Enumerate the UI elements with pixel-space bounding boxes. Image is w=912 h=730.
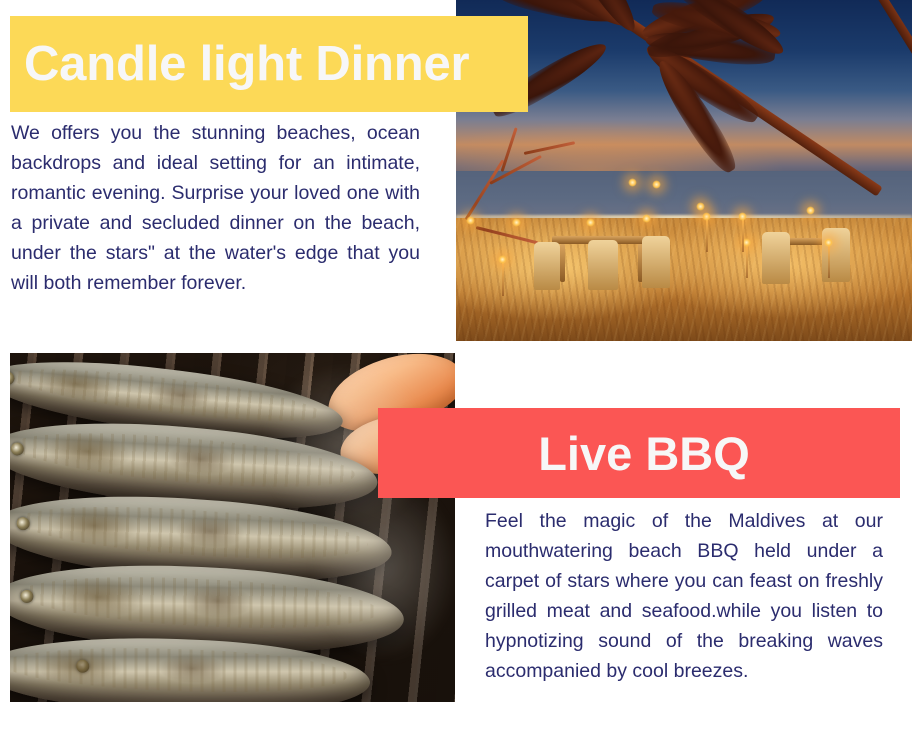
poster-page: Candle light Dinner We offers you the st… bbox=[0, 0, 912, 730]
chair bbox=[762, 232, 790, 284]
chair bbox=[642, 236, 670, 288]
live-bbq-paragraph: Feel the magic of the Maldives at our mo… bbox=[485, 506, 883, 686]
table-leg bbox=[560, 244, 565, 282]
torch-stake bbox=[828, 244, 830, 278]
candle-light-dinner-title: Candle light Dinner bbox=[10, 40, 469, 89]
chair bbox=[588, 240, 618, 290]
torch-light-icon bbox=[806, 206, 815, 215]
torch-light-icon bbox=[652, 180, 661, 189]
live-bbq-body: Feel the magic of the Maldives at our mo… bbox=[485, 506, 883, 686]
candle-light-dinner-body: We offers you the stunning beaches, ocea… bbox=[11, 118, 420, 298]
torch-light-icon bbox=[498, 255, 507, 264]
torch-stake bbox=[746, 244, 748, 278]
driftwood-branch bbox=[466, 130, 586, 240]
torch-light-icon bbox=[466, 216, 475, 225]
torch-stake bbox=[706, 218, 708, 252]
smoke-wisp bbox=[310, 473, 455, 663]
torch-stake bbox=[742, 218, 744, 252]
torch-stake bbox=[502, 262, 504, 296]
torch-light-icon bbox=[628, 178, 637, 187]
live-bbq-heading-banner: Live BBQ bbox=[378, 408, 900, 498]
torch-light-icon bbox=[586, 218, 595, 227]
torch-light-icon bbox=[642, 214, 651, 223]
candle-light-dinner-heading-banner: Candle light Dinner bbox=[10, 16, 528, 112]
torch-light-icon bbox=[824, 238, 833, 247]
chair bbox=[822, 228, 850, 282]
torch-light-icon bbox=[512, 218, 521, 227]
bbq-grill-image bbox=[10, 353, 455, 702]
torch-light-icon bbox=[738, 212, 747, 221]
torch-light-icon bbox=[696, 202, 705, 211]
candle-light-dinner-paragraph: We offers you the stunning beaches, ocea… bbox=[11, 118, 420, 298]
chair bbox=[534, 242, 560, 290]
live-bbq-title: Live BBQ bbox=[528, 430, 750, 477]
torch-light-icon bbox=[702, 212, 711, 221]
